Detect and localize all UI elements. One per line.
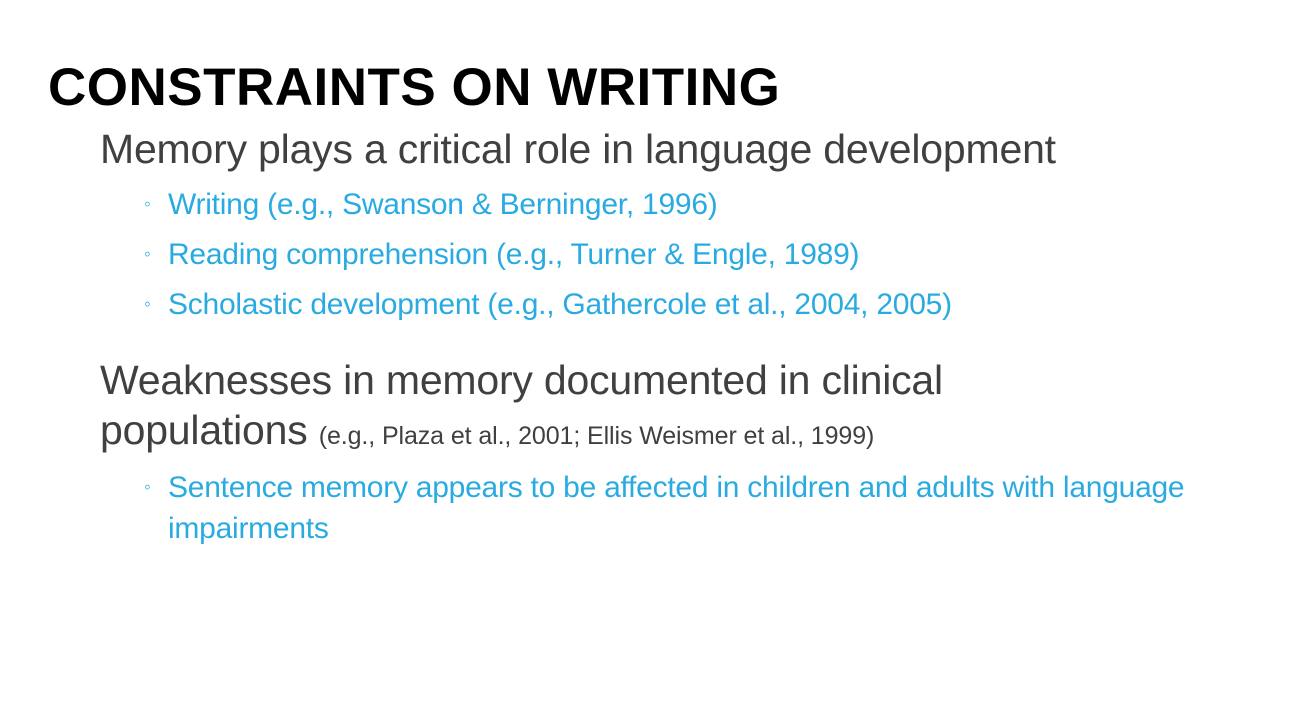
sub-bullet-text: Writing (e.g., Swanson & Berninger, 1996… — [168, 188, 718, 221]
slide-title: CONSTRAINTS ON WRITING — [48, 57, 1278, 119]
sub-bullet-text: Sentence memory appears to be affected i… — [168, 471, 1184, 545]
sub-bullet-list-2: ◦ Sentence memory appears to be affected… — [100, 467, 1280, 549]
list-item: ◦ Sentence memory appears to be affected… — [100, 467, 1278, 549]
sub-bullet-list-1: ◦ Writing (e.g., Swanson & Berninger, 19… — [100, 184, 1280, 325]
circle-bullet-icon: ◦ — [144, 184, 151, 225]
bullet-level1-heading-1: Memory plays a critical role in language… — [100, 124, 1280, 174]
circle-bullet-icon: ◦ — [144, 467, 151, 508]
circle-bullet-icon: ◦ — [144, 234, 151, 275]
list-item: ◦ Scholastic development (e.g., Gatherco… — [100, 284, 1280, 325]
bullet-level1-heading-2: Weaknesses in memory documented in clini… — [100, 355, 1100, 461]
heading-citation: (e.g., Plaza et al., 2001; Ellis Weismer… — [319, 422, 875, 450]
list-item: ◦ Reading comprehension (e.g., Turner & … — [100, 234, 1280, 275]
list-item: ◦ Writing (e.g., Swanson & Berninger, 19… — [100, 184, 1280, 225]
sub-bullet-text: Scholastic development (e.g., Gathercole… — [168, 288, 952, 321]
presentation-slide: CONSTRAINTS ON WRITING Memory plays a cr… — [0, 0, 1316, 714]
circle-bullet-icon: ◦ — [144, 284, 151, 325]
sub-bullet-text: Reading comprehension (e.g., Turner & En… — [168, 238, 859, 271]
content-block-2: Weaknesses in memory documented in clini… — [100, 355, 1280, 549]
content-block-1: Memory plays a critical role in language… — [100, 124, 1280, 325]
slide-body: Memory plays a critical role in language… — [100, 124, 1280, 549]
